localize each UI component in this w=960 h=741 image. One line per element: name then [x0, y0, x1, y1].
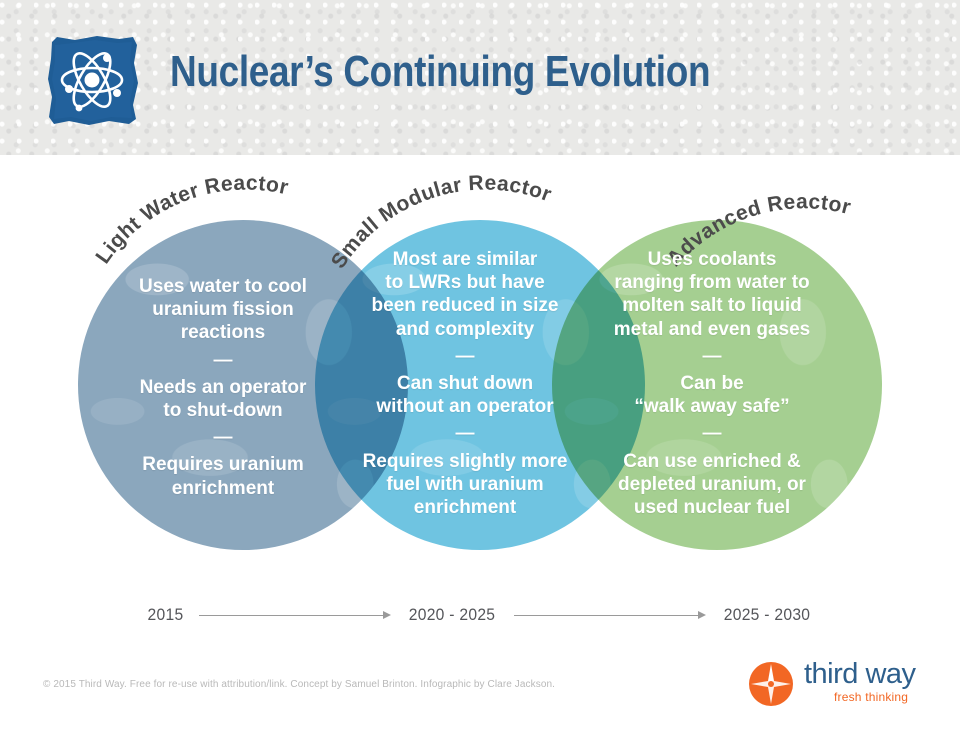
credit-text: © 2015 Third Way. Free for re-use with a…	[43, 679, 555, 690]
timeline-stage-1: 2015	[148, 605, 184, 625]
text-line: depleted uranium, or	[562, 473, 862, 496]
separator-dash: —	[332, 350, 598, 363]
brand-tagline: fresh thinking	[834, 691, 908, 703]
text-line: uranium fission	[98, 298, 348, 321]
arrow-line	[514, 615, 698, 616]
text-line: been reduced in size	[332, 294, 598, 317]
text-line: and complexity	[332, 318, 598, 341]
text-line: to LWRs but have	[332, 271, 598, 294]
text-line: Can shut down	[332, 372, 598, 395]
text-line: metal and even gases	[562, 318, 862, 341]
timeline-arrow-2	[514, 614, 706, 616]
separator-dash: —	[98, 431, 348, 444]
text-line: Uses coolants	[562, 248, 862, 271]
text-line: to shut-down	[98, 399, 348, 422]
text-line: without an operator	[332, 395, 598, 418]
text-line: Uses water to cool	[98, 275, 348, 298]
text-line: Needs an operator	[98, 376, 348, 399]
arrow-head-icon	[383, 611, 391, 619]
text-line: ranging from water to	[562, 271, 862, 294]
text-line: reactions	[98, 321, 348, 344]
text-line: enrichment	[98, 477, 348, 500]
arrow-head-icon	[698, 611, 706, 619]
timeline-stage-2: 2020 - 2025	[409, 605, 496, 625]
text-advanced-reactor: Uses coolants ranging from water to molt…	[562, 248, 862, 519]
third-way-logo[interactable]: third way fresh thinking	[748, 658, 920, 710]
timeline: 2015 2020 - 2025 2025 - 2030	[0, 598, 960, 632]
text-line: Most are similar	[332, 248, 598, 271]
text-line: Can use enriched &	[562, 450, 862, 473]
timeline-stage-3: 2025 - 2030	[723, 605, 810, 625]
separator-dash: —	[98, 354, 348, 367]
text-line: Can be	[562, 372, 862, 395]
text-line: enrichment	[332, 496, 598, 519]
separator-dash: —	[562, 427, 862, 440]
text-small-modular-reactor: Most are similar to LWRs but have been r…	[332, 248, 598, 519]
text-line: fuel with uranium	[332, 473, 598, 496]
text-line: “walk away safe”	[562, 395, 862, 418]
separator-dash: —	[562, 350, 862, 363]
header-band: Nuclear’s Continuing Evolution	[0, 0, 960, 155]
text-line: used nuclear fuel	[562, 496, 862, 519]
arrow-line	[199, 615, 383, 616]
text-light-water-reactor: Uses water to cool uranium fission react…	[98, 275, 348, 500]
atom-logo	[45, 33, 140, 128]
page-title: Nuclear’s Continuing Evolution	[170, 47, 710, 97]
venn-diagram: Light Water Reactor Small Modular Reacto…	[0, 155, 960, 585]
brand-name: third way	[804, 660, 916, 689]
text-line: Requires uranium	[98, 453, 348, 476]
text-line: molten salt to liquid	[562, 294, 862, 317]
text-line: Requires slightly more	[332, 450, 598, 473]
compass-icon	[748, 661, 794, 707]
separator-dash: —	[332, 427, 598, 440]
atom-icon	[45, 33, 140, 128]
timeline-arrow-1	[199, 614, 391, 616]
